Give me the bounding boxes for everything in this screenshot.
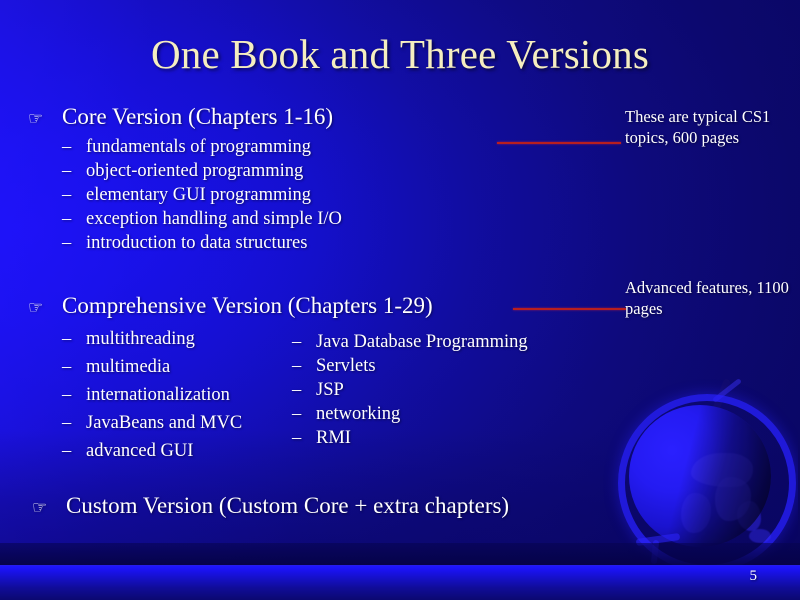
list-item-label: multimedia	[86, 357, 170, 377]
list-item: –fundamentals of programming	[62, 135, 342, 159]
dash-icon: –	[62, 439, 86, 463]
hand-pointer-icon: ☞	[32, 494, 66, 522]
dash-icon: –	[292, 378, 316, 402]
slide-canvas: One Book and Three Versions ☞ Core Versi…	[0, 0, 800, 600]
dash-icon: –	[62, 159, 86, 183]
dash-icon: –	[62, 183, 86, 207]
dash-icon: –	[62, 327, 86, 351]
bullet-comprehensive-version: ☞ Comprehensive Version (Chapters 1-29)	[28, 292, 433, 322]
list-item-label: Servlets	[316, 356, 376, 376]
page-number: 5	[750, 568, 758, 585]
list-item: –RMI	[292, 426, 528, 450]
bullet-comprehensive-version-label: Comprehensive Version (Chapters 1-29)	[62, 292, 433, 320]
list-item-label: fundamentals of programming	[86, 137, 311, 157]
annotation-comprehensive: Advanced features, 1100 pages	[625, 277, 797, 319]
dash-icon: –	[62, 411, 86, 435]
dash-icon: –	[62, 231, 86, 255]
dash-icon: –	[62, 135, 86, 159]
annotation-core: These are typical CS1 topics, 600 pages	[625, 106, 797, 148]
list-item-label: multithreading	[86, 329, 195, 349]
bullet-custom-version-label: Custom Version (Custom Core + extra chap…	[66, 492, 509, 520]
list-item-label: RMI	[316, 428, 351, 448]
dash-icon: –	[292, 354, 316, 378]
list-item-label: JSP	[316, 380, 344, 400]
dash-icon: –	[292, 330, 316, 354]
bullet-core-version-label: Core Version (Chapters 1-16)	[62, 103, 333, 131]
list-item-label: exception handling and simple I/O	[86, 209, 342, 229]
list-item: –object-oriented programming	[62, 159, 342, 183]
list-item-label: introduction to data structures	[86, 233, 307, 253]
list-item-label: Java Database Programming	[316, 332, 528, 352]
list-item: –advanced GUI	[62, 439, 242, 467]
bullet-custom-version: ☞ Custom Version (Custom Core + extra ch…	[32, 492, 509, 522]
list-item: –internationalization	[62, 383, 242, 411]
comprehensive-sublist-right: –Java Database Programming –Servlets –JS…	[292, 330, 528, 450]
list-item: –introduction to data structures	[62, 231, 342, 255]
list-item: –Servlets	[292, 354, 528, 378]
list-item: –multithreading	[62, 327, 242, 355]
core-version-sublist: –fundamentals of programming –object-ori…	[62, 135, 342, 255]
hand-pointer-icon: ☞	[28, 294, 62, 322]
list-item: –networking	[292, 402, 528, 426]
dash-icon: –	[62, 383, 86, 407]
list-item: –multimedia	[62, 355, 242, 383]
list-item: –Java Database Programming	[292, 330, 528, 354]
list-item: –exception handling and simple I/O	[62, 207, 342, 231]
bullet-core-version: ☞ Core Version (Chapters 1-16)	[28, 103, 333, 133]
dash-icon: –	[62, 207, 86, 231]
list-item-label: internationalization	[86, 385, 230, 405]
connector-line-comprehensive	[513, 308, 626, 310]
list-item: –elementary GUI programming	[62, 183, 342, 207]
comprehensive-sublist-left: –multithreading –multimedia –internation…	[62, 327, 242, 467]
list-item-label: JavaBeans and MVC	[86, 413, 242, 433]
dash-icon: –	[62, 355, 86, 379]
dash-icon: –	[292, 402, 316, 426]
slide-body: ☞ Core Version (Chapters 1-16) –fundamen…	[0, 0, 800, 600]
list-item-label: elementary GUI programming	[86, 185, 311, 205]
connector-line-core	[497, 142, 621, 144]
dash-icon: –	[292, 426, 316, 450]
list-item-label: object-oriented programming	[86, 161, 303, 181]
list-item-label: advanced GUI	[86, 441, 193, 461]
hand-pointer-icon: ☞	[28, 105, 62, 133]
list-item: –JSP	[292, 378, 528, 402]
list-item-label: networking	[316, 404, 400, 424]
list-item: –JavaBeans and MVC	[62, 411, 242, 439]
